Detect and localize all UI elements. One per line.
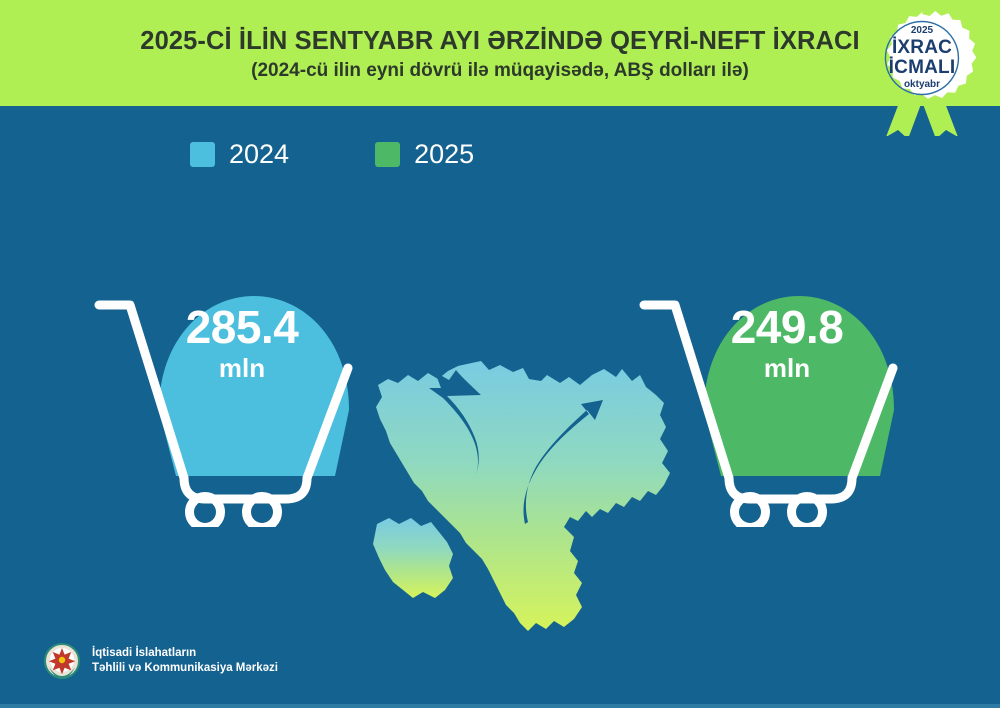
infographic-canvas: 2025-Cİ İLİN SENTYABR AYI ƏRZİNDƏ QEYRİ-…	[0, 0, 1000, 708]
legend-swatch-2024	[190, 142, 215, 167]
page-title: 2025-Cİ İLİN SENTYABR AYI ƏRZİNDƏ QEYRİ-…	[140, 27, 859, 55]
legend-item-2024: 2024	[190, 141, 289, 168]
legend-swatch-2025	[375, 142, 400, 167]
map-landmass	[373, 361, 670, 631]
organization-name-line1: İqtisadi İslahatların	[92, 646, 278, 661]
page-subtitle: (2024-cü ilin eyni dövrü ilə müqayisədə,…	[251, 61, 749, 82]
organization-name-line2: Təhlili və Kommunikasiya Mərkəzi	[92, 661, 278, 676]
organization-emblem-icon	[44, 643, 80, 679]
legend: 2024 2025	[190, 141, 474, 168]
badge-seal-icon	[885, 11, 976, 99]
legend-label-2024: 2024	[229, 141, 289, 168]
azerbaijan-map	[363, 352, 708, 634]
bottom-strip	[0, 704, 1000, 708]
legend-label-2025: 2025	[414, 141, 474, 168]
organization-name: İqtisadi İslahatların Təhlili və Kommuni…	[92, 646, 278, 676]
title-block: 2025-Cİ İLİN SENTYABR AYI ƏRZİNDƏ QEYRİ-…	[0, 0, 1000, 106]
legend-item-2025: 2025	[375, 141, 474, 168]
footer: İqtisadi İslahatların Təhlili və Kommuni…	[44, 643, 278, 679]
cart-2024: 285.4 mln	[92, 282, 392, 527]
badge-ribbon-icon	[886, 90, 958, 136]
export-review-badge: 2025 İXRAC İCMALI oktyabr	[852, 6, 992, 136]
